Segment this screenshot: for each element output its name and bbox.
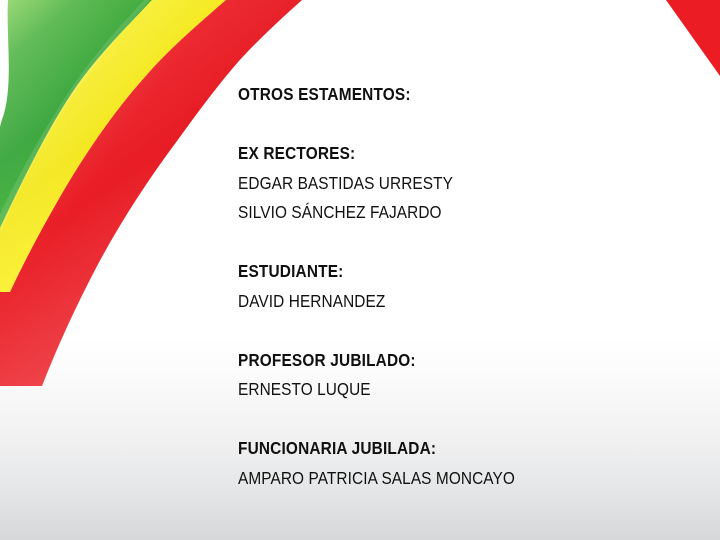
- list-item: ERNESTO LUQUE: [238, 375, 625, 405]
- spacer: [238, 228, 625, 258]
- list-item: DAVID HERNANDEZ: [238, 287, 625, 317]
- list-item: EDGAR BASTIDAS URRESTY: [238, 169, 625, 199]
- section-heading-estudiante: ESTUDIANTE:: [238, 257, 625, 287]
- slide-text-content: OTROS ESTAMENTOS: EX RECTORES: EDGAR BAS…: [238, 80, 678, 493]
- page-title: OTROS ESTAMENTOS:: [238, 80, 625, 110]
- section-heading-funcionaria-jubilada: FUNCIONARIA JUBILADA:: [238, 434, 625, 464]
- spacer: [238, 316, 625, 346]
- list-item: SILVIO SÁNCHEZ FAJARDO: [238, 198, 625, 228]
- section-heading-ex-rectores: EX RECTORES:: [238, 139, 625, 169]
- presentation-slide: OTROS ESTAMENTOS: EX RECTORES: EDGAR BAS…: [0, 0, 720, 540]
- spacer: [238, 110, 625, 140]
- spacer: [238, 405, 625, 435]
- list-item: AMPARO PATRICIA SALAS MONCAYO: [238, 464, 625, 494]
- section-heading-profesor-jubilado: PROFESOR JUBILADO:: [238, 346, 625, 376]
